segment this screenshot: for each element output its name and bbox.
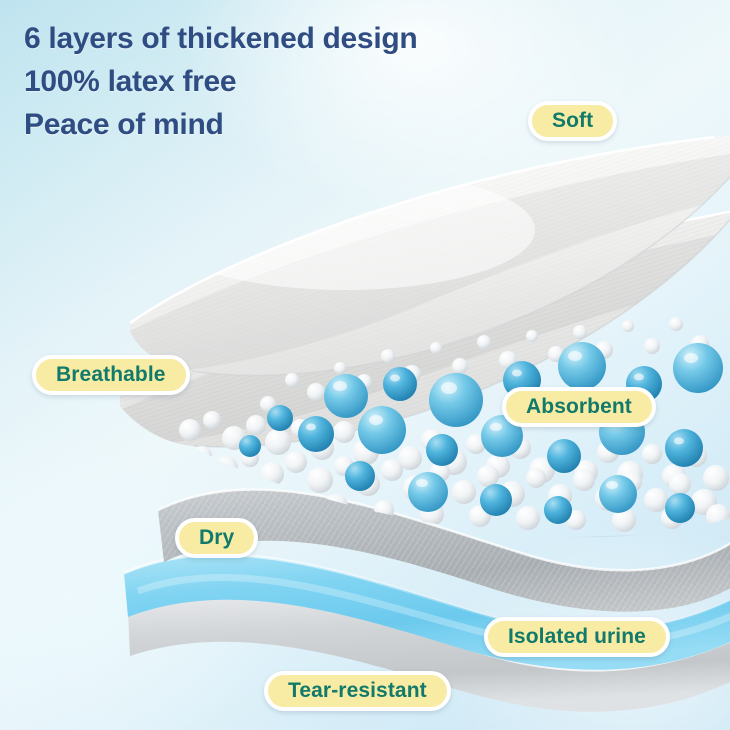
feature-badge-soft-label: Soft — [552, 109, 593, 133]
headline-line-2: 100% latex free — [24, 61, 417, 104]
feature-badge-tear-resistant-label: Tear-resistant — [288, 679, 427, 703]
product-infographic-poster: 6 layers of thickened design 100% latex … — [0, 0, 730, 730]
feature-badge-dry[interactable]: Dry — [175, 518, 258, 558]
feature-badge-breathable[interactable]: Breathable — [32, 355, 190, 395]
headline: 6 layers of thickened design 100% latex … — [24, 18, 417, 147]
feature-badge-absorbent-label: Absorbent — [526, 395, 632, 419]
feature-badge-isolated-urine[interactable]: Isolated urine — [484, 617, 670, 657]
feature-badge-breathable-label: Breathable — [56, 363, 166, 387]
feature-badge-absorbent[interactable]: Absorbent — [502, 387, 656, 427]
headline-line-3: Peace of mind — [24, 104, 417, 147]
feature-badge-tear-resistant[interactable]: Tear-resistant — [264, 671, 451, 711]
feature-badge-soft[interactable]: Soft — [528, 101, 617, 141]
feature-badge-dry-label: Dry — [199, 526, 234, 550]
headline-line-1: 6 layers of thickened design — [24, 18, 417, 61]
feature-badge-isolated-urine-label: Isolated urine — [508, 625, 646, 649]
